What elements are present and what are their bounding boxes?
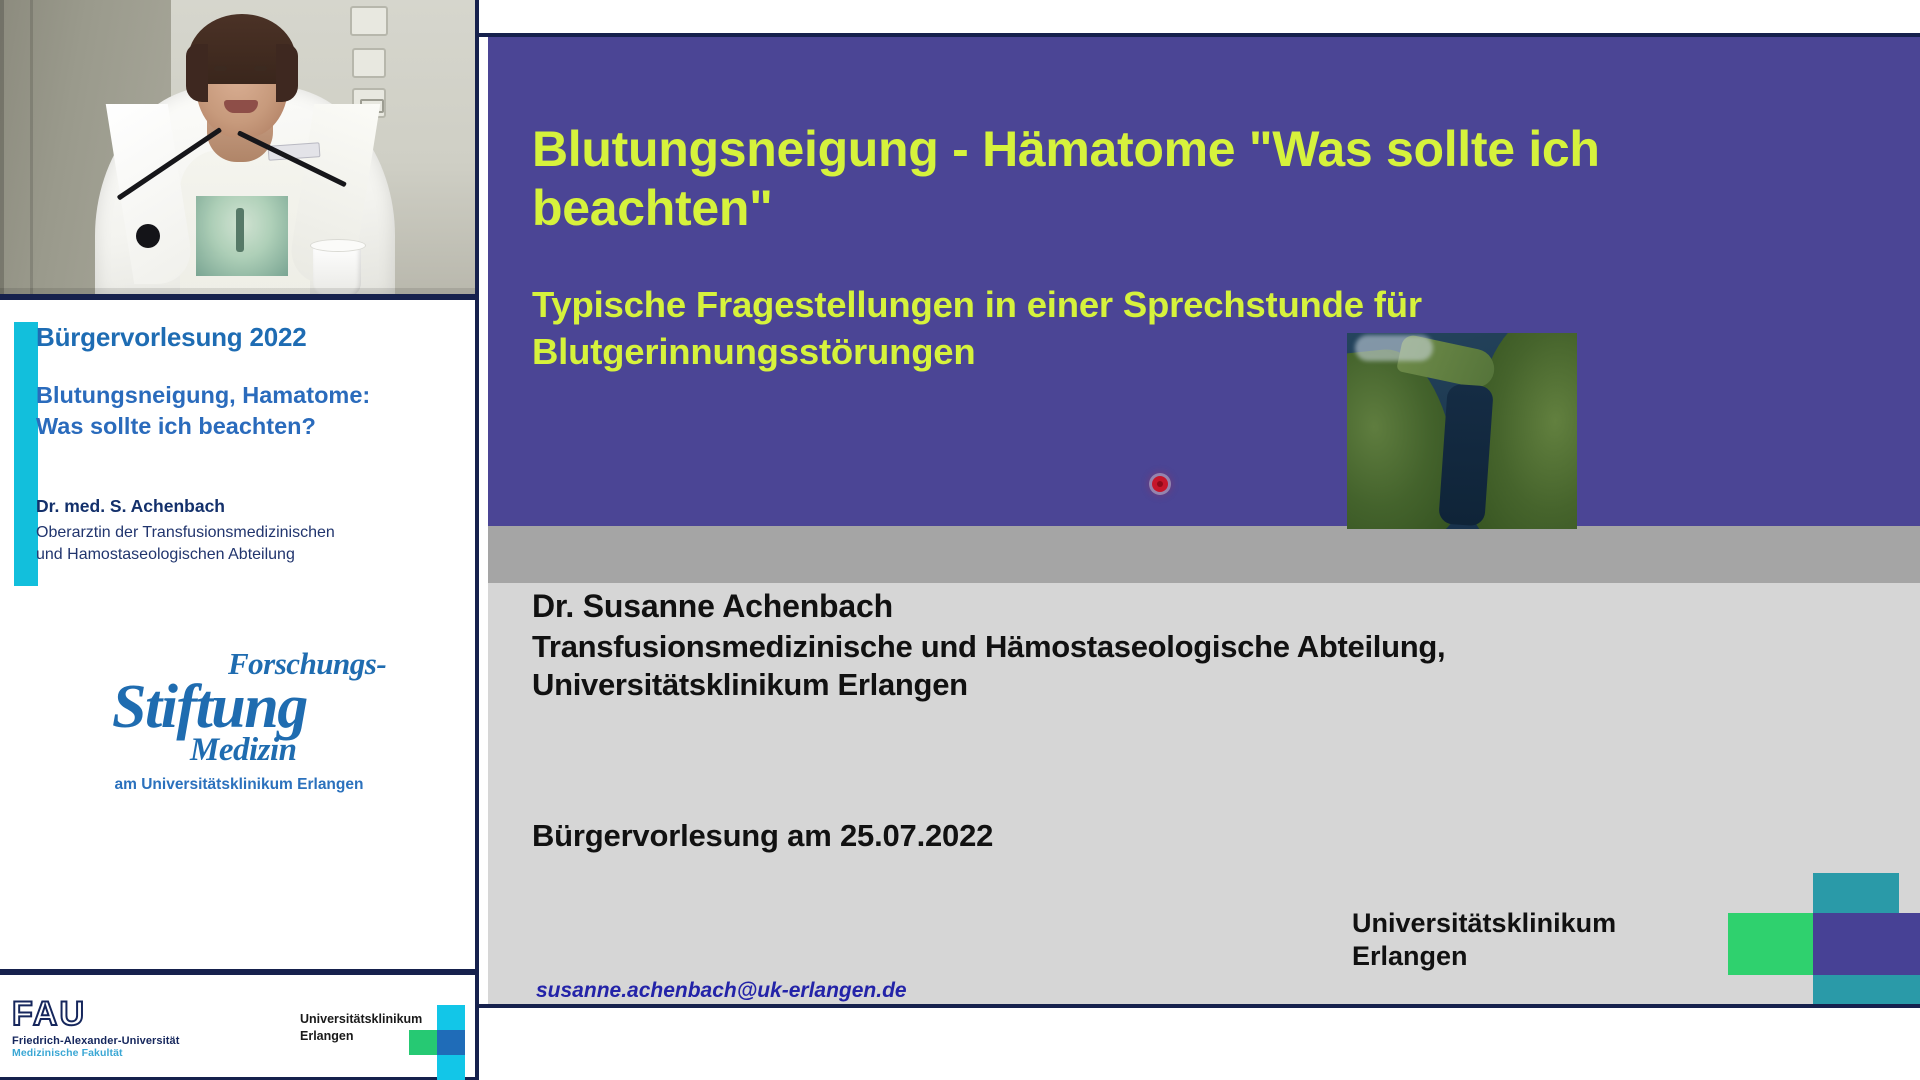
- slide-lecture-date: Bürgervorlesung am 25.07.2022: [532, 818, 1432, 854]
- universitaetsklinikum-logo-footer: Universitätsklinikum Erlangen: [300, 1005, 476, 1065]
- slide-divider-band: [488, 526, 1920, 583]
- satellite-channel: [1438, 384, 1494, 527]
- fau-logo: FAU Friedrich-Alexander-Universität Medi…: [12, 997, 180, 1059]
- uke-brand-line2: Erlangen: [1352, 940, 1616, 973]
- intro-slide-title: Bürgervorlesung 2022: [36, 322, 446, 353]
- wall-socket-icon: [350, 6, 388, 36]
- speaker-hair-side-right: [276, 44, 298, 102]
- uke-logo-square-green: [409, 1030, 437, 1055]
- speaker-mouth: [224, 100, 258, 113]
- fau-logo-line2: Medizinische Fakultät: [12, 1047, 180, 1059]
- intro-slide-subtitle: Blutungsneigung, Hamatome: Was sollte ic…: [36, 380, 466, 443]
- fau-logo-line1: Friedrich-Alexander-Universität: [12, 1035, 180, 1047]
- slide-frame-top: [479, 33, 1920, 37]
- uke-brand-square-green: [1728, 913, 1814, 975]
- slide-title: Blutungsneigung - Hämatome "Was sollte i…: [532, 120, 1742, 238]
- slide-presenter-affiliation: Transfusionsmedizinische und Hämostaseol…: [532, 628, 1532, 704]
- satellite-image-inset: [1347, 333, 1577, 529]
- left-column: Bürgervorlesung 2022 Blutungsneigung, Ha…: [0, 0, 478, 1080]
- slide-presenter-name: Dr. Susanne Achenbach: [532, 588, 1492, 625]
- intro-speaker-role-line2: und Hamostaseologischen Abteilung: [36, 544, 466, 566]
- microphone-icon: [136, 224, 160, 248]
- speaker-shirt-print: [196, 196, 288, 276]
- uke-footer-line1: Universitätsklinikum: [300, 1011, 422, 1028]
- intro-speaker-name: Dr. med. S. Achenbach: [36, 496, 456, 517]
- slide-header-band: Blutungsneigung - Hämatome "Was sollte i…: [488, 36, 1920, 526]
- intro-slide-subtitle-line2: Was sollte ich beachten?: [36, 411, 466, 442]
- accent-bar: [14, 322, 38, 586]
- slide-presenter-email[interactable]: susanne.achenbach@uk-erlangen.de: [536, 979, 1336, 1003]
- uke-brand-square-teal-top: [1813, 873, 1899, 913]
- speaker-video-feed[interactable]: [0, 0, 478, 297]
- slide-frame-bottom: [479, 1004, 1920, 1008]
- screen-root: Bürgervorlesung 2022 Blutungsneigung, Ha…: [0, 0, 1920, 1080]
- uke-brand-text: Universitätsklinikum Erlangen: [1352, 907, 1616, 973]
- panel-divider-vertical: [475, 0, 479, 1080]
- wall-panel-icon: [352, 48, 386, 78]
- fau-wordmark-icon: FAU: [12, 997, 180, 1031]
- uke-brand-line1: Universitätsklinikum: [1352, 907, 1616, 940]
- intro-speaker-role-line1: Oberarztin der Transfusionsmedizinischen: [36, 522, 466, 544]
- footer-frame-top: [0, 969, 478, 973]
- universitaetsklinikum-brand-block: Universitätsklinikum Erlangen: [1350, 891, 1920, 1006]
- stiftung-logo-tagline: am Universitätsklinikum Erlangen: [0, 776, 478, 794]
- uke-logo-square-cyan-top: [437, 1005, 465, 1030]
- slide-footer-bar: FAU Friedrich-Alexander-Universität Medi…: [0, 972, 478, 1080]
- uke-footer-text: Universitätsklinikum Erlangen: [300, 1011, 422, 1045]
- intro-slide-subtitle-line1: Blutungsneigung, Hamatome:: [36, 380, 466, 411]
- video-wall-seam-secondary: [30, 0, 33, 294]
- presentation-slide[interactable]: Blutungsneigung - Hämatome "Was sollte i…: [488, 36, 1920, 1006]
- speaker-eye-left: [214, 66, 227, 71]
- laser-pointer-dot: [1152, 476, 1168, 492]
- forschungs-stiftung-medizin-logo: Forschungs- Stiftung Medizin am Universi…: [0, 630, 478, 800]
- video-frame-bottom: [0, 294, 478, 298]
- stiftung-logo-word-medizin: Medizin: [190, 732, 297, 769]
- speaker-hair-side-left: [186, 44, 208, 102]
- satellite-cloud: [1355, 335, 1433, 361]
- uke-logo-square-blue: [437, 1030, 465, 1055]
- uke-footer-line2: Erlangen: [300, 1028, 422, 1045]
- intro-speaker-role: Oberarztin der Transfusionsmedizinischen…: [36, 522, 466, 567]
- presentation-area: Blutungsneigung - Hämatome "Was sollte i…: [478, 0, 1920, 1080]
- video-wall-seam: [0, 0, 4, 294]
- uke-brand-square-teal-bottom: [1813, 975, 1920, 1006]
- speaker-eye-right: [254, 66, 267, 71]
- uke-logo-square-cyan-bottom: [437, 1055, 465, 1080]
- intro-slide-panel: Bürgervorlesung 2022 Blutungsneigung, Ha…: [0, 297, 478, 972]
- uke-brand-square-purple: [1813, 913, 1920, 975]
